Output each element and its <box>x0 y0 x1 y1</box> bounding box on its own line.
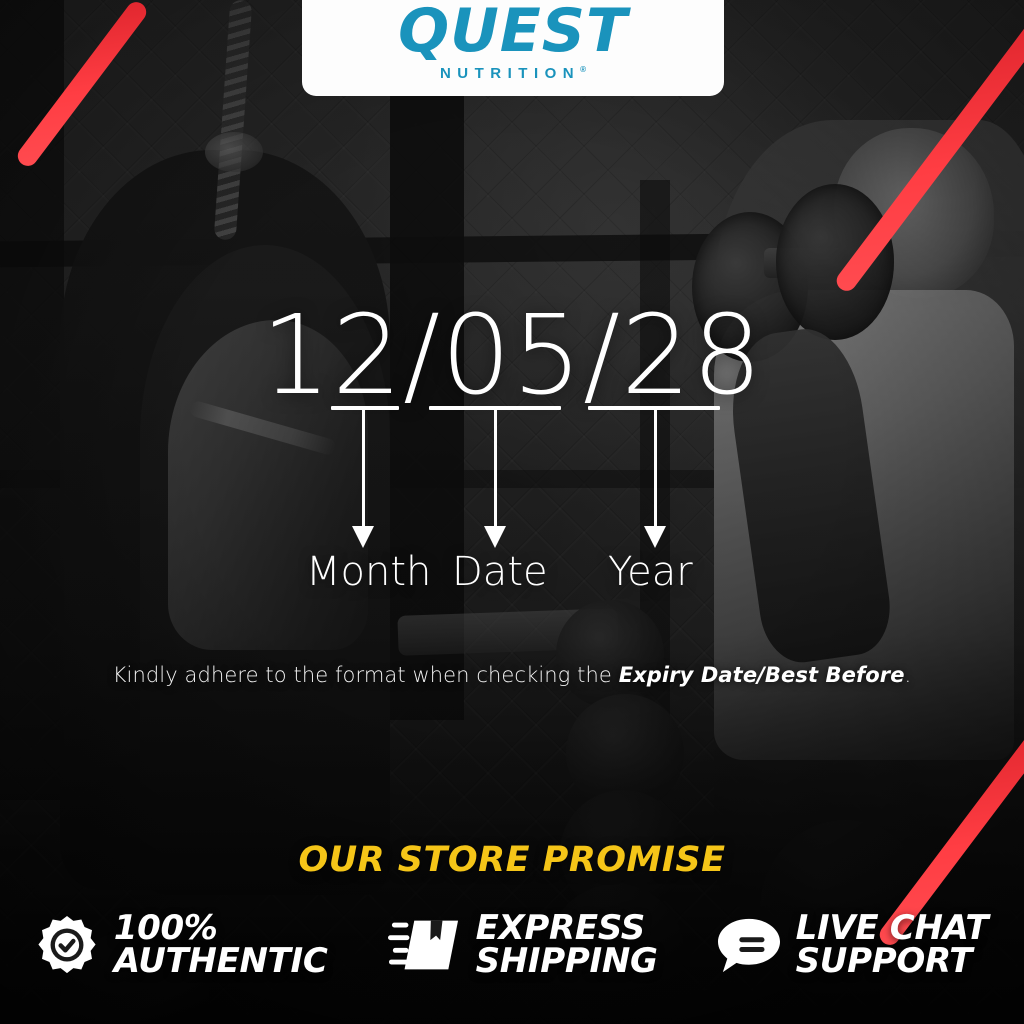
tick-bar-month <box>331 406 399 410</box>
express-parcel-icon <box>388 916 460 974</box>
promise-line2-support: SUPPORT <box>796 945 989 978</box>
verified-badge-icon <box>36 914 98 976</box>
segment-label-date: Date <box>452 552 548 592</box>
promise-line2-authentic: AUTHENTIC <box>114 945 328 978</box>
caption-emphasis-text: Expiry Date/Best Before <box>619 663 905 687</box>
date-segment-pointers <box>0 406 1024 566</box>
segment-label-month: Month <box>306 552 431 592</box>
caption-lead-text: Kindly adhere to the format when checkin… <box>113 663 619 687</box>
brand-logo-subtitle: NUTRITION® <box>440 65 586 82</box>
chat-bubble-icon <box>718 916 780 974</box>
arrow-down-icon-date <box>484 526 506 548</box>
segment-label-year: Year <box>608 552 693 592</box>
promise-item-authentic: 100% AUTHENTIC <box>36 912 328 979</box>
promise-label-support: LIVE CHAT SUPPORT <box>796 912 989 979</box>
brand-logo-wordmark: QUEST <box>398 3 628 60</box>
promo-graphic: QUEST NUTRITION® 12/05/28 Month Date Yea… <box>0 0 1024 1024</box>
caption-trail-text: . <box>905 663 912 687</box>
date-segment-labels: Month Date Year <box>0 552 1024 602</box>
promise-line2-shipping: SHIPPING <box>476 945 658 978</box>
brand-logo-subtitle-text: NUTRITION <box>440 65 580 82</box>
format-instruction-caption: Kindly adhere to the format when checkin… <box>0 663 1024 687</box>
pointer-line-month <box>362 408 365 532</box>
pointer-line-year <box>654 408 657 532</box>
promise-label-shipping: EXPRESS SHIPPING <box>476 912 658 979</box>
date-display: 12/05/28 <box>0 300 1024 410</box>
store-promise-list: 100% AUTHENTIC EXPRESS SHIPPING <box>0 912 1024 979</box>
promise-item-shipping: EXPRESS SHIPPING <box>388 912 658 979</box>
brand-logo-box: QUEST NUTRITION® <box>302 0 724 96</box>
date-value: 12/05/28 <box>261 300 763 410</box>
store-promise-heading: OUR STORE PROMISE <box>0 840 1024 880</box>
promise-item-support: LIVE CHAT SUPPORT <box>718 912 989 979</box>
arrow-down-icon-year <box>644 526 666 548</box>
registered-trademark-icon: ® <box>580 65 586 74</box>
arrow-down-icon-month <box>352 526 374 548</box>
promise-label-authentic: 100% AUTHENTIC <box>114 912 328 979</box>
pointer-line-date <box>494 408 497 532</box>
